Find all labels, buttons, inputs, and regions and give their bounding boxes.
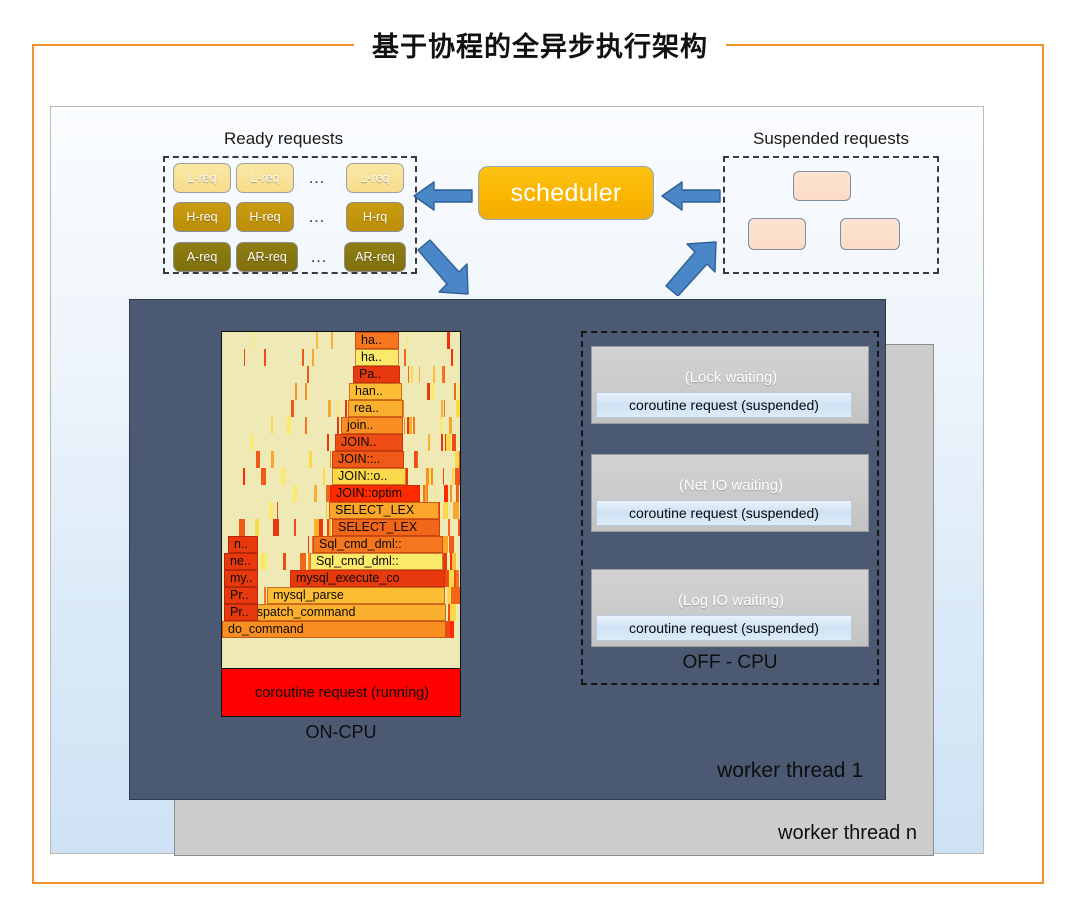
ready-row-ellipsis: … bbox=[308, 168, 327, 188]
flame-frame-label: Pa.. bbox=[355, 366, 400, 383]
flame-cell bbox=[269, 502, 273, 519]
flame-row: SELECT_LEX bbox=[222, 519, 461, 536]
flame-frame-label: do_command bbox=[224, 621, 446, 638]
flame-cell bbox=[427, 383, 430, 400]
flame-cell bbox=[328, 400, 331, 417]
flame-cell bbox=[449, 536, 454, 553]
flame-cell bbox=[308, 536, 309, 553]
scheduler-box[interactable]: scheduler bbox=[478, 166, 654, 220]
flame-cell bbox=[457, 485, 459, 502]
flame-frame-label: SELECT_LEX bbox=[331, 502, 439, 519]
flame-cell bbox=[254, 332, 255, 349]
flame-row: join.. bbox=[222, 417, 461, 434]
flame-frame-label: n.. bbox=[230, 536, 258, 553]
flame-cell bbox=[281, 468, 285, 485]
ready-row-ellipsis: … bbox=[308, 207, 327, 227]
flame-frame-label: rea.. bbox=[350, 400, 403, 417]
flame-cell bbox=[239, 519, 244, 536]
flame-row: han.. bbox=[222, 383, 461, 400]
flame-cell bbox=[408, 366, 409, 383]
suspended-request-chip[interactable] bbox=[840, 218, 900, 250]
flame-cell bbox=[407, 417, 410, 434]
flame-row: SELECT_LEX bbox=[222, 502, 461, 519]
flame-cell bbox=[455, 468, 460, 485]
suspended-request-chip[interactable] bbox=[748, 218, 806, 250]
ready-request-chip[interactable]: AR-req bbox=[236, 242, 298, 272]
flame-row: JOIN::.. bbox=[222, 451, 461, 468]
net-io-waiting-card[interactable]: (Net IO waiting) coroutine request (susp… bbox=[591, 454, 869, 532]
coroutine-suspended-bar: coroutine request (suspended) bbox=[596, 500, 852, 526]
flame-cell bbox=[447, 332, 449, 349]
flame-frame-label: Pr.. bbox=[226, 587, 258, 604]
flame-frame-label: JOIN::optim bbox=[332, 485, 420, 502]
flame-cell bbox=[431, 383, 434, 400]
flame-cell bbox=[314, 485, 317, 502]
flame-cell bbox=[444, 366, 445, 383]
coroutine-suspended-bar: coroutine request (suspended) bbox=[596, 615, 852, 641]
flame-cell bbox=[243, 468, 245, 485]
worker-thread-1-label: worker thread 1 bbox=[717, 759, 863, 783]
flame-row: JOIN::optim bbox=[222, 485, 461, 502]
flame-cell bbox=[433, 366, 436, 383]
flame-cell bbox=[256, 451, 260, 468]
flame-cell bbox=[319, 519, 323, 536]
flame-frame-label: Pr.. bbox=[226, 604, 258, 621]
flame-row: do_command bbox=[222, 621, 461, 638]
flame-cell bbox=[413, 417, 415, 434]
flame-cell bbox=[448, 519, 450, 536]
flame-cell bbox=[449, 570, 454, 587]
flame-cell bbox=[443, 502, 448, 519]
flame-cell bbox=[294, 519, 296, 536]
flame-cell bbox=[446, 434, 451, 451]
flame-cell bbox=[327, 434, 329, 451]
flame-cell bbox=[261, 468, 266, 485]
flame-cell bbox=[444, 485, 448, 502]
ready-request-chip[interactable]: AR-req bbox=[344, 242, 406, 272]
off-cpu-label: OFF - CPU bbox=[581, 652, 879, 674]
flame-cell bbox=[312, 349, 314, 366]
flame-row: mysql_parsePr.. bbox=[222, 587, 461, 604]
flame-cell bbox=[404, 349, 406, 366]
flame-row: mysql_execute_comy.. bbox=[222, 570, 461, 587]
flame-cell bbox=[309, 451, 312, 468]
flame-frame-label: SELECT_LEX bbox=[334, 519, 440, 536]
arrow-worker-to-suspended bbox=[660, 238, 720, 296]
flame-frame-label: JOIN.. bbox=[337, 434, 403, 451]
flame-cell bbox=[452, 434, 456, 451]
flame-cell bbox=[264, 349, 266, 366]
flame-cell bbox=[300, 553, 307, 570]
flame-frame-label: han.. bbox=[351, 383, 402, 400]
flame-frame-label: ha.. bbox=[357, 349, 399, 366]
flame-cell bbox=[284, 553, 286, 570]
flame-cell bbox=[264, 587, 266, 604]
flame-cell bbox=[337, 400, 340, 417]
worker-thread-n-label: worker thread n bbox=[778, 822, 917, 845]
flame-cell bbox=[440, 417, 443, 434]
flame-frame-label: Sql_cmd_dml:: bbox=[312, 553, 443, 570]
flame-cell bbox=[326, 502, 327, 519]
flame-cell bbox=[271, 451, 273, 468]
flame-cell bbox=[323, 468, 325, 485]
flame-cell bbox=[441, 400, 444, 417]
flame-cell bbox=[429, 468, 431, 485]
flame-cell bbox=[450, 621, 454, 638]
flame-row: Pa.. bbox=[222, 366, 461, 383]
arrow-ready-to-worker bbox=[412, 238, 472, 296]
flame-graph[interactable]: ha..ha..Pa..han..rea..join..JOIN..JOIN::… bbox=[221, 331, 461, 717]
flame-cell bbox=[302, 349, 304, 366]
flame-cell bbox=[452, 468, 454, 485]
flame-frame-label: mysql_parse bbox=[269, 587, 445, 604]
flame-cell bbox=[456, 400, 460, 417]
flame-cell bbox=[307, 366, 309, 383]
flame-cell bbox=[287, 417, 291, 434]
flame-cell bbox=[260, 553, 267, 570]
flame-frame-label: Sql_cmd_dml:: bbox=[315, 536, 443, 553]
flame-cell bbox=[444, 400, 445, 417]
flame-cell bbox=[455, 451, 459, 468]
flame-cell bbox=[419, 366, 420, 383]
arrow-suspended-to-scheduler bbox=[660, 176, 722, 216]
flame-cell bbox=[449, 417, 452, 434]
flame-cell bbox=[453, 502, 459, 519]
flame-cell bbox=[441, 434, 443, 451]
ready-request-chip[interactable]: A-req bbox=[173, 242, 231, 272]
flame-cell bbox=[327, 519, 329, 536]
ready-request-chip[interactable]: L-req bbox=[346, 163, 404, 193]
ready-requests-caption: Ready requests bbox=[224, 129, 343, 149]
flame-row: dispatch_commandPr.. bbox=[222, 604, 461, 621]
flame-cell bbox=[457, 587, 461, 604]
ready-request-chip[interactable]: L-req bbox=[236, 163, 294, 193]
flame-cell bbox=[407, 332, 408, 349]
flame-cell bbox=[316, 332, 318, 349]
flame-graph-rows: ha..ha..Pa..han..rea..join..JOIN..JOIN::… bbox=[222, 332, 461, 717]
flame-row: ha.. bbox=[222, 332, 461, 349]
flame-cell bbox=[458, 383, 460, 400]
flame-cell bbox=[414, 451, 417, 468]
arrow-scheduler-to-ready bbox=[412, 176, 474, 216]
on-cpu-label: ON-CPU bbox=[221, 722, 461, 743]
suspended-requests-caption: Suspended requests bbox=[753, 129, 909, 149]
flame-cell bbox=[434, 485, 435, 502]
flame-cell bbox=[305, 383, 307, 400]
flame-cell bbox=[431, 468, 433, 485]
log-io-waiting-card[interactable]: (Log IO waiting) coroutine request (susp… bbox=[591, 569, 869, 647]
lock-waiting-card[interactable]: (Lock waiting) coroutine request (suspen… bbox=[591, 346, 869, 424]
flame-frame-label: JOIN::.. bbox=[334, 451, 404, 468]
flame-cell bbox=[443, 468, 444, 485]
flame-row: JOIN.. bbox=[222, 434, 461, 451]
flame-cell bbox=[277, 502, 279, 519]
flame-cell bbox=[295, 383, 296, 400]
flame-row: Sql_cmd_dml::n.. bbox=[222, 536, 461, 553]
flame-cell bbox=[337, 417, 339, 434]
flame-row: ha.. bbox=[222, 349, 461, 366]
flame-cell bbox=[250, 434, 253, 451]
flame-cell bbox=[291, 400, 294, 417]
flame-frame-label: JOIN::o.. bbox=[334, 468, 406, 485]
flame-row: rea.. bbox=[222, 400, 461, 417]
flame-cell bbox=[411, 366, 413, 383]
flame-frame-label: my.. bbox=[226, 570, 258, 587]
flame-cell bbox=[458, 519, 462, 536]
flame-frame-label: ha.. bbox=[357, 332, 399, 349]
flame-cell bbox=[244, 349, 246, 366]
net-io-waiting-label: (Net IO waiting) bbox=[592, 477, 870, 494]
flame-cell bbox=[404, 417, 406, 434]
flame-cell bbox=[449, 332, 450, 349]
flame-cell bbox=[425, 485, 427, 502]
ready-request-chip[interactable]: L-req bbox=[173, 163, 231, 193]
log-io-waiting-label: (Log IO waiting) bbox=[592, 592, 870, 609]
ready-request-chip[interactable]: H-rq bbox=[346, 202, 404, 232]
flame-cell bbox=[451, 349, 453, 366]
flame-frame-label: ne.. bbox=[226, 553, 258, 570]
flame-cell bbox=[452, 553, 457, 570]
flame-cell bbox=[450, 604, 456, 621]
flame-row: JOIN::o.. bbox=[222, 468, 461, 485]
ready-row-ellipsis: … bbox=[310, 247, 329, 267]
flame-frame-label: dispatch_command bbox=[243, 604, 446, 621]
flame-cell bbox=[345, 400, 348, 417]
suspended-request-chip[interactable] bbox=[793, 171, 851, 201]
diagram-canvas: 基于协程的全异步执行架构 Ready requests Suspended re… bbox=[0, 0, 1080, 920]
flame-cell bbox=[454, 383, 456, 400]
flame-row: Sql_cmd_dml::ne.. bbox=[222, 553, 461, 570]
flame-cell bbox=[305, 417, 307, 434]
coroutine-suspended-bar: coroutine request (suspended) bbox=[596, 392, 852, 418]
ready-request-chip[interactable]: H-req bbox=[173, 202, 231, 232]
flame-cell bbox=[450, 485, 452, 502]
ready-request-chip[interactable]: H-req bbox=[236, 202, 294, 232]
lock-waiting-label: (Lock waiting) bbox=[592, 369, 870, 386]
flame-cell bbox=[314, 519, 319, 536]
flame-cell bbox=[451, 587, 458, 604]
flame-cell bbox=[331, 332, 333, 349]
flame-cell bbox=[255, 519, 260, 536]
flame-cell bbox=[428, 434, 430, 451]
flame-frame-label: mysql_execute_co bbox=[292, 570, 445, 587]
flame-cell bbox=[273, 519, 279, 536]
flame-running-frame: coroutine request (running) bbox=[222, 668, 461, 716]
flame-cell bbox=[271, 417, 273, 434]
flame-frame-label: join.. bbox=[343, 417, 403, 434]
flame-cell bbox=[293, 485, 297, 502]
